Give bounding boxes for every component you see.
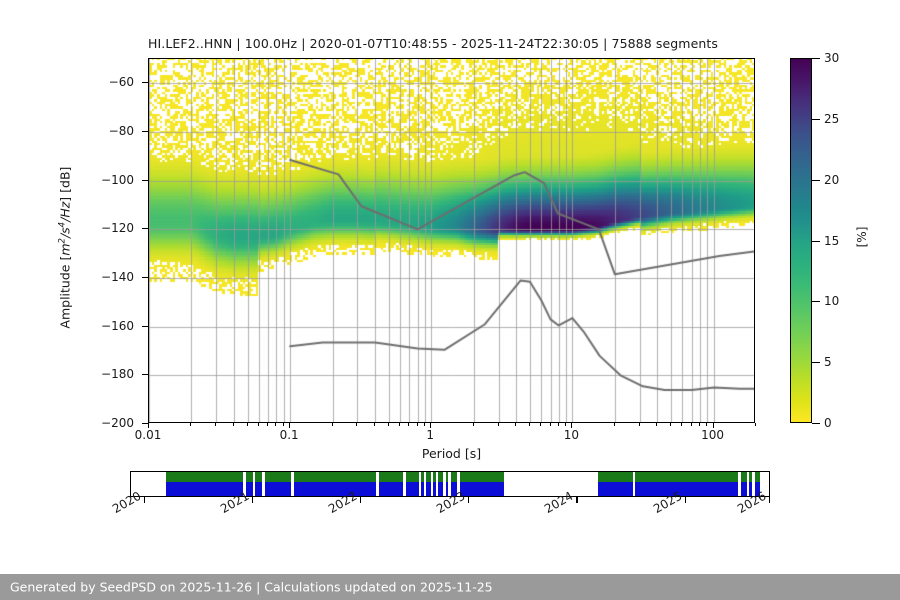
y-tick-mark (142, 277, 148, 278)
colorbar-tick-mark (812, 241, 820, 242)
timeline-coverage-segment (421, 472, 424, 496)
x-tick-label: 0.01 (135, 428, 162, 442)
timeline-green-band (438, 472, 443, 482)
timeline-blue-band (438, 482, 443, 496)
x-minor-tick (699, 423, 700, 426)
timeline-green-band (166, 472, 243, 482)
timeline-coverage-segment (166, 472, 243, 496)
timeline-green-band (635, 472, 738, 482)
x-tick-mark (430, 423, 431, 428)
timeline-coverage-segment (741, 472, 747, 496)
x-minor-tick (388, 423, 389, 426)
timeline-blue-band (255, 482, 262, 496)
x-minor-tick (540, 423, 541, 426)
x-minor-tick (681, 423, 682, 426)
timeline-green-band (406, 472, 418, 482)
x-minor-tick (356, 423, 357, 426)
timeline-tick-mark (769, 497, 770, 503)
x-minor-tick (408, 423, 409, 426)
timeline-blue-band (379, 482, 403, 496)
x-minor-tick (247, 423, 248, 426)
colorbar-tick-label: 0 (824, 416, 832, 430)
timeline-green-band (598, 472, 632, 482)
timeline-coverage-segment (379, 472, 403, 496)
x-minor-tick (190, 423, 191, 426)
x-axis-label: Period [s] (148, 446, 755, 461)
timeline-coverage-segment (438, 472, 443, 496)
timeline-green-band (433, 472, 436, 482)
x-minor-tick (267, 423, 268, 426)
x-tick-label: 0.1 (280, 428, 299, 442)
timeline-blue-band (433, 482, 436, 496)
timeline-green-band (246, 472, 252, 482)
timeline-blue-band (406, 482, 418, 496)
y-tick-mark (142, 180, 148, 181)
timeline-blue-band (460, 482, 504, 496)
y-tick-mark (142, 131, 148, 132)
x-minor-tick (614, 423, 615, 426)
x-minor-tick (283, 423, 284, 426)
x-minor-tick (670, 423, 671, 426)
y-axis-label: Amplitude [m2/s4/Hz] [dB] (57, 38, 72, 458)
timeline-tick-mark (685, 497, 686, 503)
y-tick-label: −140 (82, 270, 134, 284)
x-minor-tick (258, 423, 259, 426)
timeline-green-band (451, 472, 457, 482)
timeline-coverage-segment (635, 472, 738, 496)
x-minor-tick (417, 423, 418, 426)
timeline-green-band (265, 472, 291, 482)
colorbar-label: [%] (855, 207, 869, 267)
y-tick-mark (142, 82, 148, 83)
timeline-blue-band (265, 482, 291, 496)
timeline-coverage-segment (255, 472, 262, 496)
timeline-coverage-segment (460, 472, 504, 496)
y-tick-mark (142, 374, 148, 375)
x-tick-mark (289, 423, 290, 428)
timeline-green-band (755, 472, 760, 482)
timeline-blue-band (635, 482, 738, 496)
footer-bar: Generated by SeedPSD on 2025-11-26 | Cal… (0, 574, 900, 600)
y-tick-mark (142, 228, 148, 229)
timeline-green-band (460, 472, 504, 482)
timeline-blue-band (446, 482, 448, 496)
colorbar-tick-label: 30 (824, 51, 839, 65)
timeline-coverage-segment (265, 472, 291, 496)
x-minor-tick (515, 423, 516, 426)
colorbar-tick-mark (812, 119, 820, 120)
timeline-tick-mark (468, 497, 469, 503)
footer-text: Generated by SeedPSD on 2025-11-26 | Cal… (10, 580, 493, 595)
y-tick-label: −180 (82, 367, 134, 381)
timeline-green-band (426, 472, 430, 482)
timeline-green-band (294, 472, 376, 482)
colorbar-tick-label: 5 (824, 355, 832, 369)
y-tick-label: −160 (82, 319, 134, 333)
timeline-coverage-segment (246, 472, 252, 496)
timeline-tick-mark (252, 497, 253, 503)
timeline-green-band (749, 472, 752, 482)
colorbar-tick-label: 20 (824, 173, 839, 187)
timeline-blue-band (166, 482, 243, 496)
x-tick-mark (148, 423, 149, 428)
x-minor-tick (275, 423, 276, 426)
timeline-coverage-segment (749, 472, 752, 496)
psd-axes[interactable] (148, 58, 755, 423)
timeline-blue-band (598, 482, 632, 496)
x-minor-tick (706, 423, 707, 426)
timeline-coverage-segment (433, 472, 436, 496)
x-minor-tick (233, 423, 234, 426)
timeline-tick-mark (144, 497, 145, 503)
timeline-tick-mark (360, 497, 361, 503)
x-tick-mark (571, 423, 572, 428)
timeline-coverage-segment (598, 472, 632, 496)
timeline-green-band (421, 472, 424, 482)
x-tick-label: 1 (426, 428, 434, 442)
colorbar-tick-mark (812, 180, 820, 181)
timeline-blue-band (294, 482, 376, 496)
x-minor-tick (374, 423, 375, 426)
colorbar (790, 58, 812, 423)
y-tick-label: −100 (82, 173, 134, 187)
timeline-green-band (255, 472, 262, 482)
x-minor-tick (656, 423, 657, 426)
y-tick-label: −80 (82, 124, 134, 138)
y-tick-label: −60 (82, 75, 134, 89)
x-minor-tick (498, 423, 499, 426)
x-minor-tick (529, 423, 530, 426)
x-minor-tick (473, 423, 474, 426)
timeline-coverage-segment (426, 472, 430, 496)
colorbar-tick-mark (812, 423, 820, 424)
x-minor-tick (215, 423, 216, 426)
colorbar-tick-label: 25 (824, 112, 839, 126)
x-minor-tick (332, 423, 333, 426)
colorbar-tick-label: 10 (824, 294, 839, 308)
x-minor-tick (639, 423, 640, 426)
timeline-tick-mark (576, 497, 577, 503)
x-minor-tick (565, 423, 566, 426)
colorbar-tick-label: 15 (824, 234, 839, 248)
x-minor-tick (424, 423, 425, 426)
timeline-coverage-segment (446, 472, 448, 496)
y-tick-label: −200 (82, 416, 134, 430)
x-minor-tick (550, 423, 551, 426)
x-tick-label: 100 (701, 428, 724, 442)
x-tick-mark (713, 423, 714, 428)
timeline-green-band (379, 472, 403, 482)
timeline-green-band (446, 472, 448, 482)
timeline-blue-band (741, 482, 747, 496)
x-minor-tick (755, 423, 756, 426)
y-tick-mark (142, 326, 148, 327)
y-tick-label: −120 (82, 221, 134, 235)
x-minor-tick (691, 423, 692, 426)
timeline-coverage-segment (406, 472, 418, 496)
timeline-coverage-segment (294, 472, 376, 496)
colorbar-tick-mark (812, 301, 820, 302)
psd-figure: HI.LEF2..HNN | 100.0Hz | 2020-01-07T10:4… (0, 0, 900, 600)
x-minor-tick (399, 423, 400, 426)
x-tick-label: 10 (564, 428, 579, 442)
timeline-blue-band (421, 482, 424, 496)
x-minor-tick (558, 423, 559, 426)
timeline-green-band (741, 472, 747, 482)
colorbar-tick-mark (812, 362, 820, 363)
noise-model-curves (149, 59, 755, 423)
colorbar-tick-mark (812, 58, 820, 59)
timeline-blue-band (426, 482, 430, 496)
